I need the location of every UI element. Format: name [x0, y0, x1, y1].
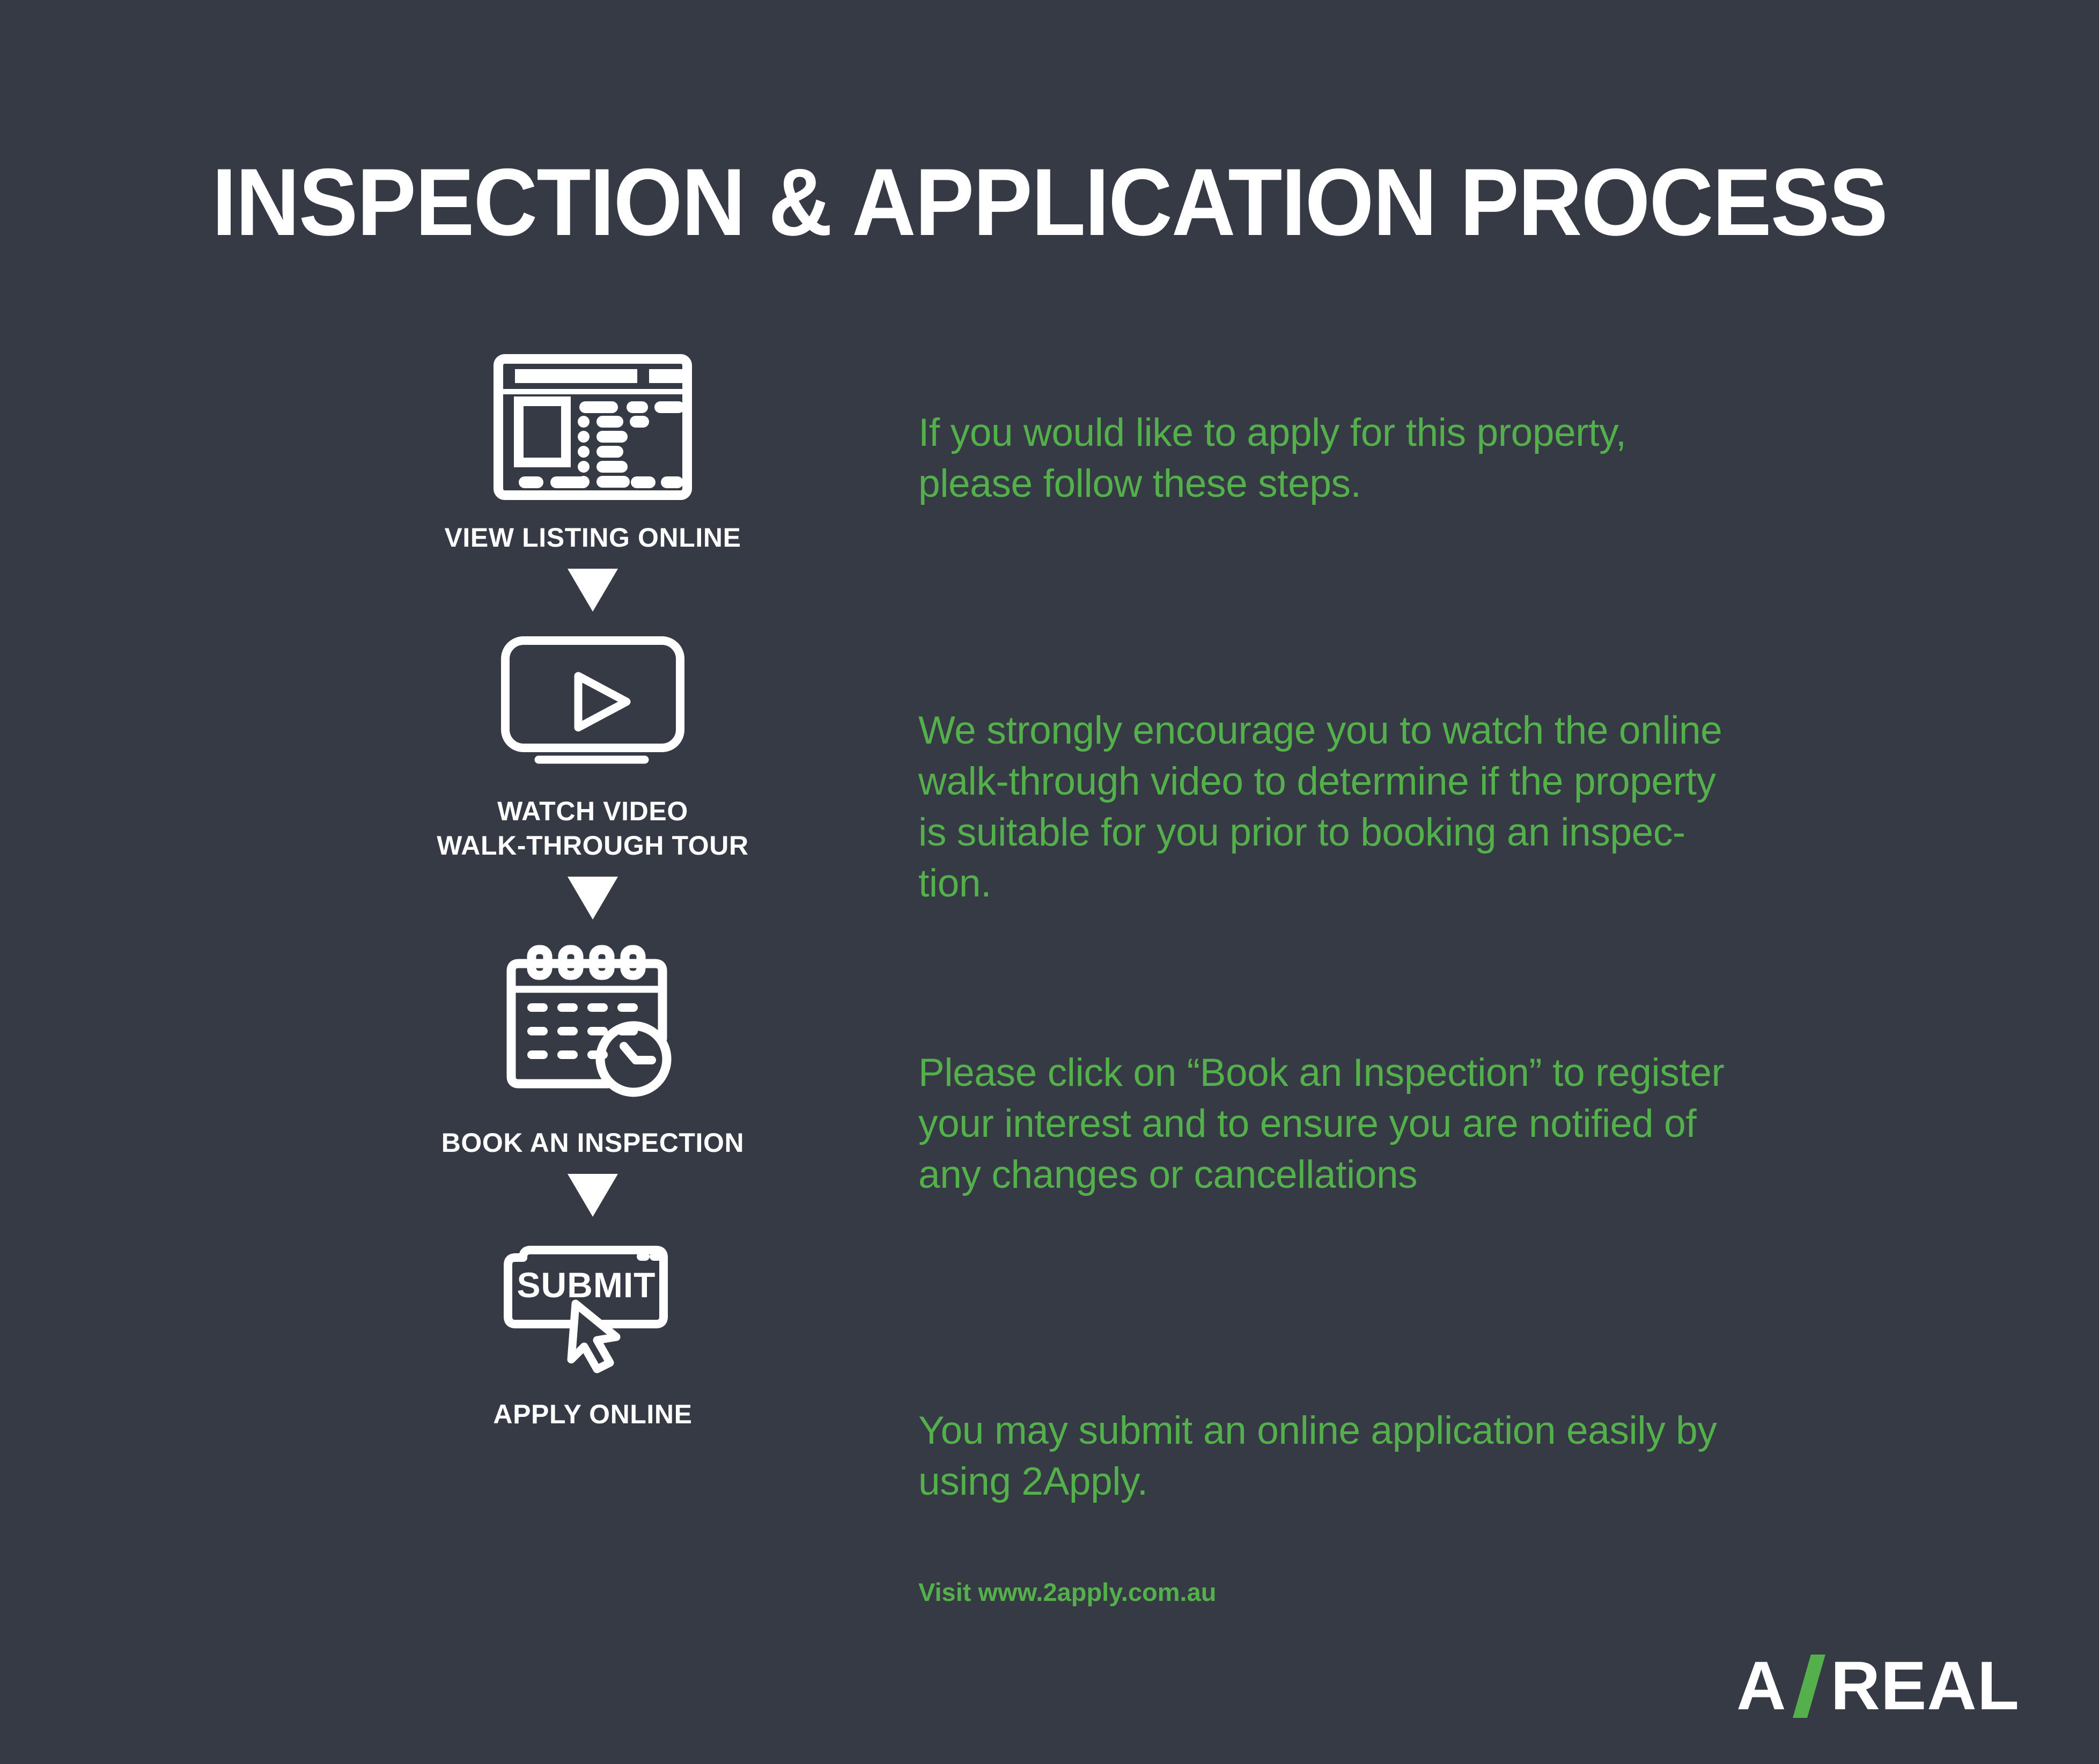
flow-arrow-1	[343, 569, 842, 612]
calendar-clock-icon	[502, 943, 684, 1104]
green-slash-icon	[1792, 1655, 1830, 1718]
step-label-watch-video: WATCH VIDEO WALK-THROUGH TOUR	[437, 794, 748, 863]
down-triangle-arrow-icon	[568, 569, 618, 612]
paragraph-inspection: Please click on “Book an Inspection” to …	[918, 1048, 1724, 1201]
step-label-book-inspection: BOOK AN INSPECTION	[441, 1126, 745, 1160]
step-label-apply-online: APPLY ONLINE	[493, 1397, 692, 1431]
process-flow-column: VIEW LISTING ONLINE WATCH VIDEO WALK-THR…	[343, 354, 842, 1431]
down-triangle-arrow-icon	[568, 1174, 618, 1217]
brand-logo: A REAL	[1736, 1651, 2020, 1721]
flow-arrow-3	[343, 1174, 842, 1217]
paragraph-intro: If you would like to apply for this prop…	[918, 408, 1626, 510]
step-label-view-listing: VIEW LISTING ONLINE	[444, 520, 741, 555]
flow-arrow-2	[343, 877, 842, 920]
logo-letter-a: A	[1736, 1652, 1786, 1721]
svg-text:SUBMIT: SUBMIT	[517, 1265, 656, 1305]
process-step-3: BOOK AN INSPECTION	[343, 943, 842, 1160]
paragraph-apply: You may submit an online application eas…	[918, 1406, 1717, 1508]
infographic-poster: INSPECTION & APPLICATION PROCESS	[0, 0, 2099, 1764]
submit-button-cursor-icon: SUBMIT	[495, 1241, 690, 1376]
process-step-4: SUBMIT APPLY ONLINE	[343, 1241, 842, 1431]
down-triangle-arrow-icon	[568, 877, 618, 920]
visit-url-line[interactable]: Visit www.2apply.com.au	[918, 1577, 1216, 1607]
paragraph-video: We strongly encourage you to watch the o…	[918, 705, 1722, 909]
browser-listing-icon	[494, 354, 692, 500]
page-title: INSPECTION & APPLICATION PROCESS	[73, 155, 2026, 250]
logo-word-real: REAL	[1831, 1652, 2020, 1721]
process-step-2: WATCH VIDEO WALK-THROUGH TOUR	[343, 635, 842, 863]
video-player-icon	[499, 635, 687, 776]
process-step-1: VIEW LISTING ONLINE	[343, 354, 842, 555]
